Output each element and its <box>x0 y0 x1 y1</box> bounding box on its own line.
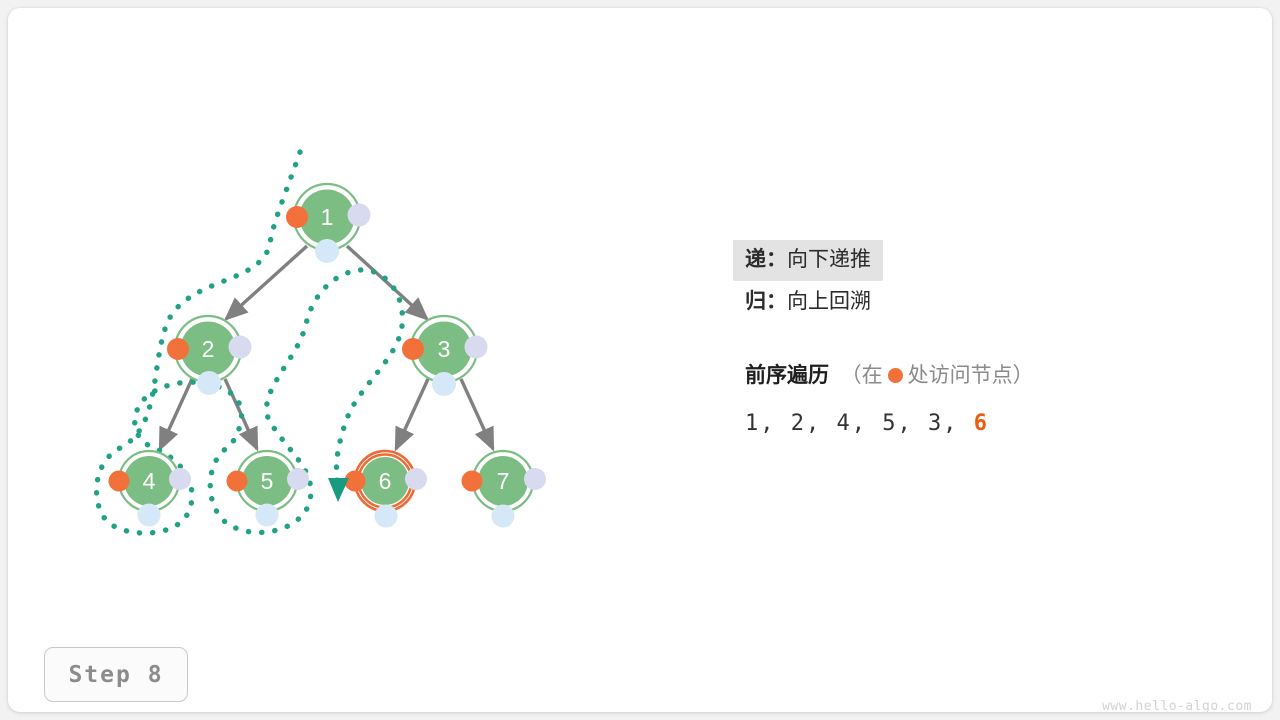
explanation-panel: 递：向下递推 归：向上回溯 前序遍历 （在处访问节点） 1, 2, 4, 5, … <box>735 240 1255 436</box>
node-2-label: 2 <box>202 336 215 362</box>
node-4-right-marker <box>169 468 191 490</box>
edge-3-7 <box>461 379 493 449</box>
tree-node-5[interactable]: 5 <box>227 451 310 527</box>
tree-node-7[interactable]: 7 <box>462 451 547 528</box>
legend-return-row: 归：向上回溯 <box>735 281 1255 323</box>
edge-1-3 <box>347 246 427 319</box>
node-3-visit-marker <box>402 338 424 360</box>
node-3-right-marker <box>465 336 488 359</box>
node-7-visit-marker <box>462 471 483 492</box>
traversal-note-suffix: 处访问节点） <box>908 364 1034 387</box>
orange-dot-icon <box>888 368 903 383</box>
edge-2-4 <box>160 379 192 449</box>
node-5-visit-marker <box>227 471 248 492</box>
traversal-title: 前序遍历 （在处访问节点） <box>745 365 1255 386</box>
node-1-label: 1 <box>321 204 334 230</box>
traversal-title-bold: 前序遍历 <box>745 364 829 387</box>
node-6-visit-marker <box>345 471 366 492</box>
legend-return-text: 向上回溯 <box>787 290 871 313</box>
node-7-bottom-marker <box>492 505 515 528</box>
illustration-stage: 1 2 3 <box>8 8 1272 712</box>
node-1-right-marker <box>348 204 371 227</box>
tree-node-1[interactable]: 1 <box>286 184 371 263</box>
tree-node-3[interactable]: 3 <box>402 316 488 396</box>
node-4-label: 4 <box>143 468 156 494</box>
node-5-label: 5 <box>261 468 274 494</box>
traversal-sequence-past: 1, 2, 4, 5, 3, <box>745 411 974 436</box>
legend-return-chip: 归：向上回溯 <box>733 282 883 323</box>
node-7-label: 7 <box>497 468 510 494</box>
edge-3-6 <box>396 379 428 449</box>
node-5-right-marker <box>287 468 309 490</box>
traversal-sequence-current: 6 <box>974 411 989 436</box>
node-6-label: 6 <box>379 468 392 494</box>
edge-1-2 <box>226 246 307 319</box>
traversal-sequence: 1, 2, 4, 5, 3, 6 <box>745 411 1255 436</box>
current-pointer-triangle <box>328 478 349 502</box>
watermark: www.hello-algo.com <box>1102 699 1252 712</box>
tree-node-6[interactable]: 6 <box>345 451 428 528</box>
node-3-label: 3 <box>438 336 451 362</box>
node-5-bottom-marker <box>256 504 279 527</box>
legend-recurse-chip: 递：向下递推 <box>733 240 883 281</box>
legend-recurse-row: 递：向下递推 <box>735 240 1255 281</box>
node-4-visit-marker <box>109 471 130 492</box>
node-2-visit-marker <box>167 338 189 360</box>
node-7-right-marker <box>524 468 546 490</box>
legend-return-lead: 归： <box>745 290 787 313</box>
node-2-bottom-marker <box>197 371 221 395</box>
traversal-block: 前序遍历 （在处访问节点） 1, 2, 4, 5, 3, 6 <box>735 365 1255 436</box>
slide-card: 1 2 3 <box>8 8 1272 712</box>
legend-recurse-lead: 递： <box>745 248 787 271</box>
node-3-bottom-marker <box>432 372 456 396</box>
legend-recurse-text: 向下递推 <box>787 248 871 271</box>
node-6-right-marker <box>405 468 427 490</box>
traversal-note-prefix: （在 <box>841 364 883 387</box>
node-1-visit-marker <box>286 206 308 228</box>
node-2-right-marker <box>229 336 252 359</box>
node-4-bottom-marker <box>138 504 161 527</box>
node-1-bottom-marker <box>315 239 339 263</box>
tree-node-4[interactable]: 4 <box>109 451 192 527</box>
node-6-bottom-marker <box>375 505 398 528</box>
step-badge: Step 8 <box>44 647 188 702</box>
